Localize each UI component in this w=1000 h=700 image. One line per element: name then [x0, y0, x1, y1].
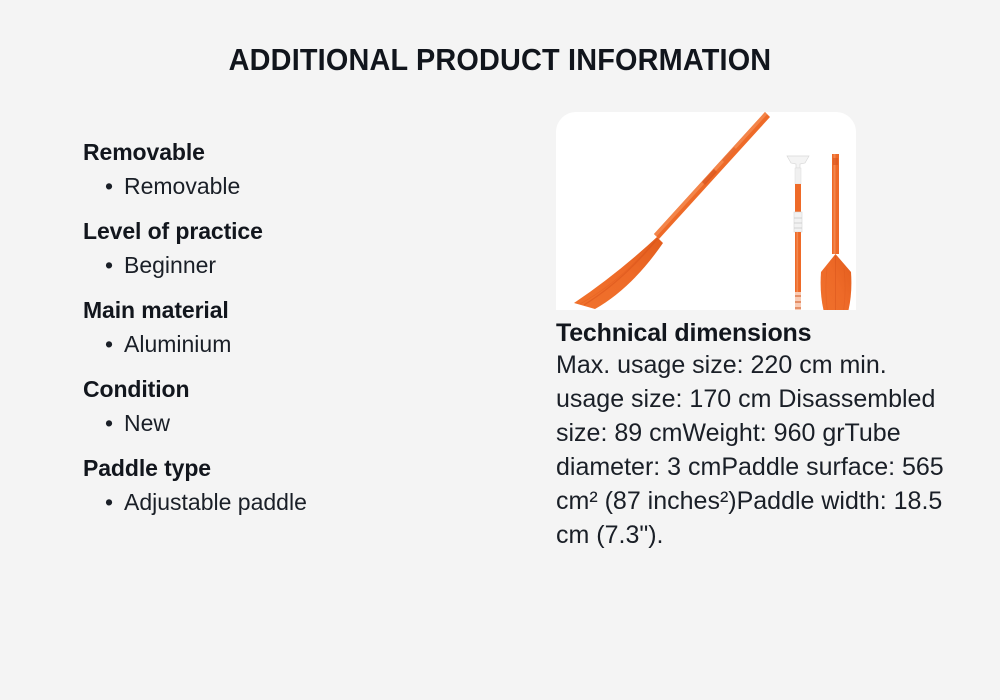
spec-heading: Condition — [83, 375, 503, 404]
technical-dimensions-text: Max. usage size: 220 cm min. usage size:… — [556, 348, 946, 552]
bullet-icon: • — [105, 171, 113, 201]
specification-list: Removable • Removable Level of practice … — [83, 138, 503, 534]
bullet-icon: • — [105, 408, 113, 438]
list-item: • Adjustable paddle — [83, 487, 503, 517]
spec-value-list: • Adjustable paddle — [83, 487, 503, 517]
spec-block-main-material: Main material • Aluminium — [83, 296, 503, 359]
spec-value-label: Beginner — [124, 252, 216, 278]
bullet-icon: • — [105, 250, 113, 280]
spec-value-list: • Removable — [83, 171, 503, 201]
paddle-disassembled-image — [781, 150, 815, 310]
spec-heading: Main material — [83, 296, 503, 325]
spec-heading: Level of practice — [83, 217, 503, 246]
spec-heading: Removable — [83, 138, 503, 167]
spec-heading: Paddle type — [83, 454, 503, 483]
spec-block-level-of-practice: Level of practice • Beginner — [83, 217, 503, 280]
list-item: • Beginner — [83, 250, 503, 280]
spec-value-label: Aluminium — [124, 331, 231, 357]
list-item: • Removable — [83, 171, 503, 201]
spec-block-condition: Condition • New — [83, 375, 503, 438]
spec-value-list: • Aluminium — [83, 329, 503, 359]
spec-value-label: Adjustable paddle — [124, 489, 307, 515]
spec-block-paddle-type: Paddle type • Adjustable paddle — [83, 454, 503, 517]
spec-value-list: • Beginner — [83, 250, 503, 280]
bullet-icon: • — [105, 329, 113, 359]
list-item: • Aluminium — [83, 329, 503, 359]
product-information-page: ADDITIONAL PRODUCT INFORMATION Removable… — [0, 0, 1000, 700]
paddle-main-image — [562, 112, 774, 310]
page-title: ADDITIONAL PRODUCT INFORMATION — [35, 42, 965, 78]
spec-value-list: • New — [83, 408, 503, 438]
spec-value-label: Removable — [124, 173, 240, 199]
spec-value-label: New — [124, 410, 170, 436]
technical-dimensions-title: Technical dimensions — [556, 318, 952, 348]
list-item: • New — [83, 408, 503, 438]
paddle-vertical-image — [818, 150, 854, 310]
technical-column: Technical dimensions Max. usage size: 22… — [556, 112, 952, 552]
bullet-icon: • — [105, 487, 113, 517]
product-image-card — [556, 112, 856, 310]
spec-block-removable: Removable • Removable — [83, 138, 503, 201]
